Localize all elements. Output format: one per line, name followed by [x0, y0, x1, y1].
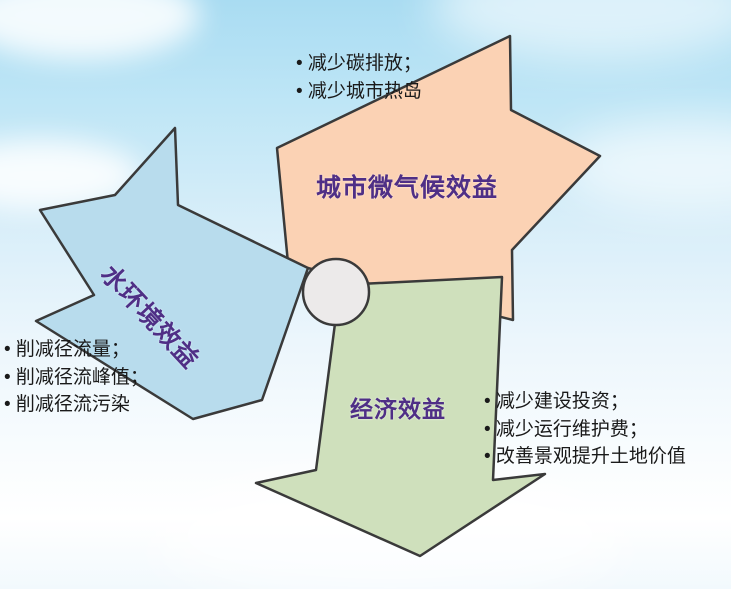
- note-list-economic-benefit: • 减少建设投资； • 减少运行维护费； • 改善景观提升土地价值: [484, 388, 686, 471]
- arrow-label-economic-benefit: 经济效益: [350, 390, 446, 424]
- center-circle: [303, 259, 369, 325]
- note-item: • 削减径流量；: [4, 336, 149, 364]
- note-item: • 减少建设投资；: [484, 388, 686, 416]
- note-item: • 减少碳排放；: [296, 50, 422, 78]
- note-item: • 减少城市热岛: [296, 78, 422, 106]
- note-list-water-environment: • 削减径流量； • 削减径流峰值； • 削减径流污染: [4, 336, 149, 419]
- note-item: • 减少运行维护费；: [484, 416, 686, 444]
- note-item: • 削减径流峰值；: [4, 364, 149, 392]
- diagram-canvas: 城市微气候效益 水环境效益 经济效益 • 减少碳排放； • 减少城市热岛 • 削…: [0, 0, 731, 589]
- arrow-label-micro-climate: 城市微气候效益: [316, 168, 498, 204]
- note-item: • 削减径流污染: [4, 391, 149, 419]
- note-item: • 改善景观提升土地价值: [484, 443, 686, 471]
- note-list-micro-climate: • 减少碳排放； • 减少城市热岛: [296, 50, 422, 105]
